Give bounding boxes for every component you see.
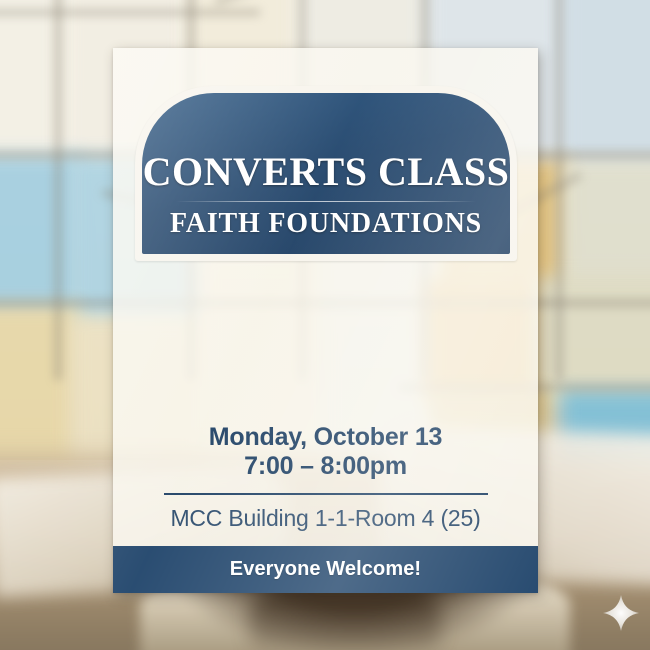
glass-pane xyxy=(560,0,650,165)
details-divider xyxy=(164,493,488,495)
glass-came xyxy=(0,10,260,15)
banner-subtitle: FAITH FOUNDATIONS xyxy=(170,210,482,238)
flyer-image: CONVERTS CLASS FAITH FOUNDATIONS Monday,… xyxy=(0,0,650,650)
banner-divider xyxy=(176,201,476,202)
sparkle-icon xyxy=(600,592,642,634)
glass-came xyxy=(55,0,61,380)
flyer-poster: CONVERTS CLASS FAITH FOUNDATIONS Monday,… xyxy=(113,48,538,593)
glass-pane xyxy=(0,155,80,315)
event-date: Monday, October 13 xyxy=(113,423,538,452)
header-banner: CONVERTS CLASS FAITH FOUNDATIONS xyxy=(135,86,517,261)
event-details: Monday, October 13 7:00 – 8:00pm MCC Bui… xyxy=(113,423,538,531)
banner-title: CONVERTS CLASS xyxy=(143,152,510,192)
footer-text: Everyone Welcome! xyxy=(230,558,421,581)
banner-fill: CONVERTS CLASS FAITH FOUNDATIONS xyxy=(142,93,510,254)
event-time: 7:00 – 8:00pm xyxy=(113,452,538,481)
footer-banner: Everyone Welcome! xyxy=(113,546,538,593)
event-location: MCC Building 1-1-Room 4 (25) xyxy=(113,506,538,531)
